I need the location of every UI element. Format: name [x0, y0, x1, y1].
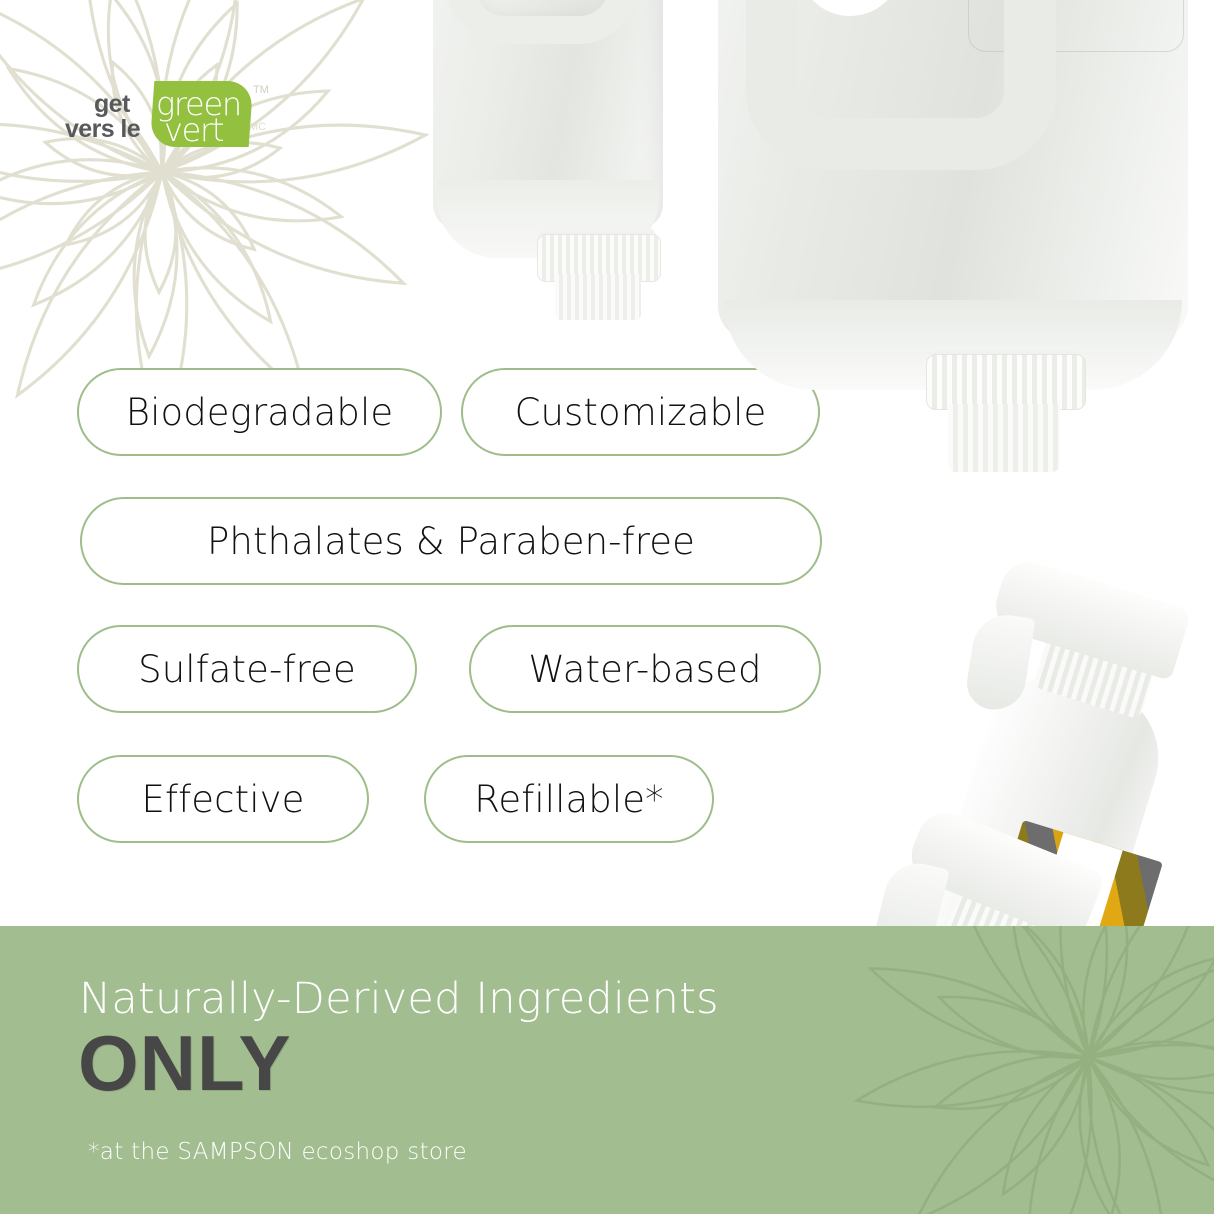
- spray-trigger: [963, 610, 1035, 714]
- spray-collar: [1033, 633, 1156, 719]
- feature-pill-sulfate-free[interactable]: Sulfate-free: [77, 625, 417, 713]
- jug-label-panel: [968, 0, 1184, 52]
- jug-neck: [538, 228, 656, 270]
- feature-pill-label: Customizable: [515, 391, 767, 434]
- feature-pill-phthalates-paraben-free[interactable]: Phthalates & Paraben-free: [80, 497, 822, 585]
- banner-leaf-watermark: [824, 926, 1214, 1214]
- jug-cap: [926, 354, 1086, 410]
- product-fabric-softener-jug: ssant ic softener: [433, 0, 695, 290]
- feature-pill-label: Sulfate-free: [138, 648, 356, 691]
- jug-handle: [447, 0, 637, 44]
- banner-emphasis: ONLY: [78, 1024, 292, 1102]
- feature-pill-customizable[interactable]: Customizable: [461, 368, 820, 456]
- feature-pill-label: Water-based: [528, 648, 761, 691]
- spray-head: [903, 804, 1107, 944]
- jug-shoulder: [437, 180, 659, 258]
- jug-neck: [932, 350, 1082, 396]
- feature-pill-label: Biodegradable: [126, 391, 393, 434]
- jug-cap: [537, 234, 661, 282]
- jug-handle-hole: [798, 0, 902, 16]
- feature-pill-effective[interactable]: Effective: [77, 755, 369, 843]
- jug-cap-lower: [948, 404, 1060, 472]
- banner-footnote: *at the SAMPSON ecoshop store: [88, 1139, 467, 1165]
- feature-pill-biodegradable[interactable]: Biodegradable: [77, 368, 442, 456]
- feature-pill-label: Phthalates & Paraben-free: [207, 520, 695, 563]
- feature-pill-refillable[interactable]: Refillable*: [424, 755, 714, 843]
- feature-pill-water-based[interactable]: Water-based: [469, 625, 821, 713]
- marketing-graphic: Biodegradable Customizable Phthalates & …: [0, 0, 1214, 1214]
- brand-logo[interactable]: green vert get vers le TM MC: [94, 83, 266, 153]
- jug-body: [718, 0, 1188, 340]
- jug-cap-lower: [555, 274, 641, 320]
- feature-pill-label: Effective: [142, 778, 305, 821]
- logo-badge-fr: vert: [164, 111, 223, 149]
- logo-prefix-fr: vers le: [65, 115, 140, 144]
- banner-title: Naturally-Derived Ingredients: [79, 974, 719, 1024]
- jug-body: [433, 0, 663, 230]
- logo-trademark-en: TM: [253, 84, 269, 96]
- spray-head: [989, 555, 1192, 681]
- jug-handle: [746, 0, 1056, 170]
- feature-pill-label: Refillable*: [474, 778, 663, 821]
- logo-trademark-fr: MC: [249, 121, 266, 133]
